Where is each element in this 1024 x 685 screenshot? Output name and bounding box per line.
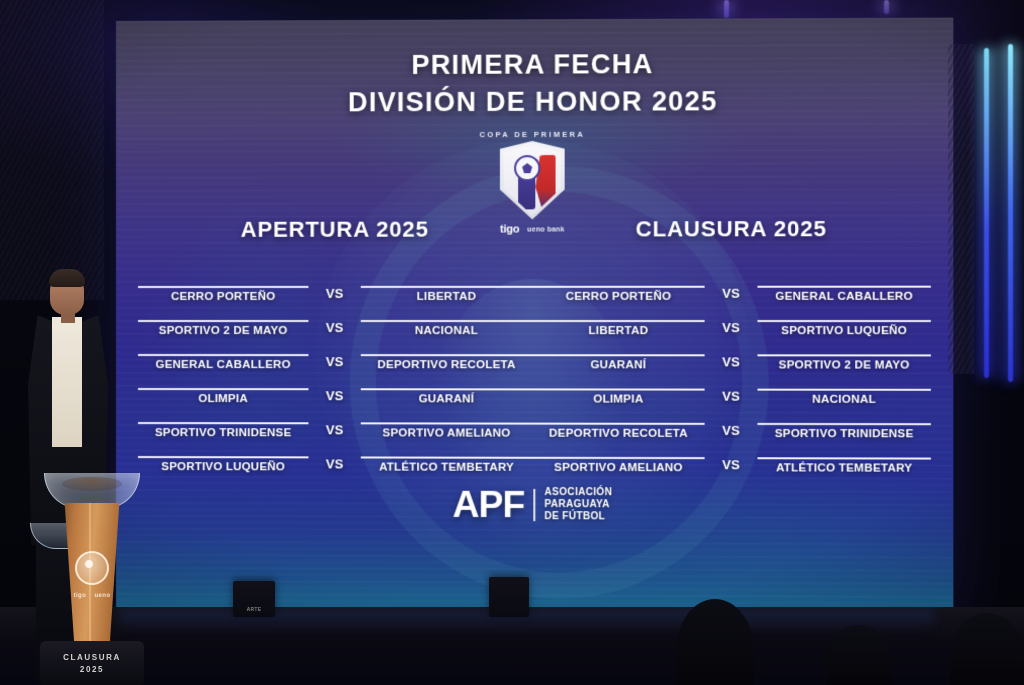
vs-label: VS [705, 354, 758, 371]
vs-label: VS [705, 423, 758, 440]
match-row: GUARANÍ VS SPORTIVO 2 DE MAYO [532, 337, 931, 371]
apf-subtitle-line3: DE FÚTBOL [544, 511, 612, 523]
podium-base-label: CLAUSURA 2025 [40, 652, 144, 675]
title-division-de-honor: DIVISIÓN DE HONOR 2025 [116, 85, 953, 119]
match-row: SPORTIVO 2 DE MAYO VS NACIONAL [138, 303, 532, 337]
match-row: SPORTIVO TRINIDENSE VS SPORTIVO AMELIANO [138, 405, 532, 440]
match-row: DEPORTIVO RECOLETA VS SPORTIVO TRINIDENS… [532, 406, 931, 441]
away-team: SPORTIVO AMELIANO [361, 422, 533, 439]
home-team: SPORTIVO AMELIANO [532, 457, 704, 474]
screen-title-block: PRIMERA FECHA DIVISIÓN DE HONOR 2025 [116, 48, 953, 119]
vs-label: VS [308, 286, 360, 303]
match-row: OLIMPIA VS GUARANÍ [138, 371, 532, 405]
vs-label: VS [705, 389, 758, 406]
crest-arc-text: COPA DE PRIMERA [472, 130, 593, 139]
vs-label: VS [705, 457, 758, 474]
trophy-sponsors: tigo ueno [36, 593, 148, 599]
match-row: GENERAL CABALLERO VS DEPORTIVO RECOLETA [138, 337, 532, 371]
away-team: NACIONAL [361, 320, 533, 337]
away-team: ATLÉTICO TEMBETARY [361, 456, 533, 473]
vs-label: VS [705, 286, 758, 303]
apf-subtitle: ASOCIACIÓN PARAGUAYA DE FÚTBOL [544, 487, 612, 523]
home-team: LIBERTAD [532, 320, 704, 337]
led-screen: PRIMERA FECHA DIVISIÓN DE HONOR 2025 COP… [116, 18, 953, 617]
home-team: GUARANÍ [532, 354, 704, 371]
trophy-sponsor-tigo: tigo [74, 593, 87, 599]
fixtures-columns: APERTURA 2025 CERRO PORTEÑO VS LIBERTAD … [116, 216, 953, 475]
match-row: SPORTIVO AMELIANO VS ATLÉTICO TEMBETARY [532, 440, 931, 475]
home-team: OLIMPIA [532, 388, 704, 405]
stage-speaker-left: ARTE [233, 581, 275, 617]
trophy-crest-icon [75, 551, 109, 585]
podium-label-year: 2025 [40, 664, 144, 676]
wall-panel-left [0, 0, 104, 300]
apf-divider [533, 489, 535, 521]
led-tube-3 [724, 0, 729, 18]
match-row: OLIMPIA VS NACIONAL [532, 371, 931, 406]
podium-label-clausura: CLAUSURA [40, 652, 144, 664]
apf-subtitle-line2: PARAGUAYA [544, 499, 612, 511]
vs-label: VS [308, 320, 360, 337]
crest-shield-inner [504, 145, 561, 216]
away-team: LIBERTAD [361, 286, 533, 303]
home-team: SPORTIVO LUQUEÑO [138, 456, 308, 473]
home-team: CERRO PORTEÑO [138, 286, 308, 303]
match-row: LIBERTAD VS SPORTIVO LUQUEÑO [532, 303, 931, 337]
home-team: GENERAL CABALLERO [138, 354, 308, 371]
column-title-clausura: CLAUSURA 2025 [532, 216, 931, 243]
soccer-ball-icon [514, 155, 540, 181]
away-team: GENERAL CABALLERO [757, 286, 930, 303]
match-row: CERRO PORTEÑO VS GENERAL CABALLERO [532, 268, 931, 302]
trophy-podium: tigo ueno CLAUSURA 2025 [36, 473, 148, 685]
vs-label: VS [308, 388, 360, 405]
apf-subtitle-line1: ASOCIACIÓN [544, 487, 612, 499]
stage-speaker-right [489, 577, 529, 617]
away-team: SPORTIVO TRINIDENSE [757, 423, 930, 440]
away-team: DEPORTIVO RECOLETA [361, 354, 533, 371]
home-team: OLIMPIA [138, 388, 308, 405]
away-team: SPORTIVO 2 DE MAYO [757, 354, 930, 371]
led-tube-1 [984, 48, 989, 378]
home-team: DEPORTIVO RECOLETA [532, 423, 704, 440]
vs-label: VS [705, 320, 758, 337]
home-team: CERRO PORTEÑO [532, 286, 704, 303]
vs-label: VS [308, 422, 360, 439]
match-row: SPORTIVO LUQUEÑO VS ATLÉTICO TEMBETARY [138, 439, 532, 474]
vs-label: VS [308, 354, 360, 371]
trophy-sponsor-ueno: ueno [94, 593, 110, 599]
column-clausura: CLAUSURA 2025 CERRO PORTEÑO VS GENERAL C… [532, 216, 931, 475]
home-team: SPORTIVO TRINIDENSE [138, 422, 308, 439]
presenter-shirt [52, 317, 82, 447]
led-tube-4 [884, 0, 889, 14]
vs-label: VS [308, 456, 360, 473]
wall-panel-right [948, 44, 974, 374]
home-team: SPORTIVO 2 DE MAYO [138, 320, 308, 337]
away-team: GUARANÍ [361, 388, 533, 405]
away-team: NACIONAL [757, 389, 930, 406]
title-primera-fecha: PRIMERA FECHA [116, 48, 953, 82]
podium-base: CLAUSURA 2025 [40, 641, 144, 685]
screen-content: PRIMERA FECHA DIVISIÓN DE HONOR 2025 COP… [116, 18, 953, 617]
column-apertura: APERTURA 2025 CERRO PORTEÑO VS LIBERTAD … [138, 216, 532, 473]
away-team: SPORTIVO LUQUEÑO [757, 320, 930, 337]
apf-logo: APF ASOCIACIÓN PARAGUAYA DE FÚTBOL [453, 484, 613, 527]
stage-scene: PRIMERA FECHA DIVISIÓN DE HONOR 2025 COP… [0, 0, 1024, 685]
led-tube-2 [1008, 44, 1013, 382]
column-title-apertura: APERTURA 2025 [138, 216, 532, 243]
apf-mark-text: APF [453, 484, 525, 526]
speaker-label: ARTE [233, 607, 275, 613]
away-team: ATLÉTICO TEMBETARY [757, 457, 930, 475]
crest-shield-icon [500, 141, 565, 220]
presenter-hair [49, 269, 85, 287]
match-row: CERRO PORTEÑO VS LIBERTAD [138, 269, 532, 303]
